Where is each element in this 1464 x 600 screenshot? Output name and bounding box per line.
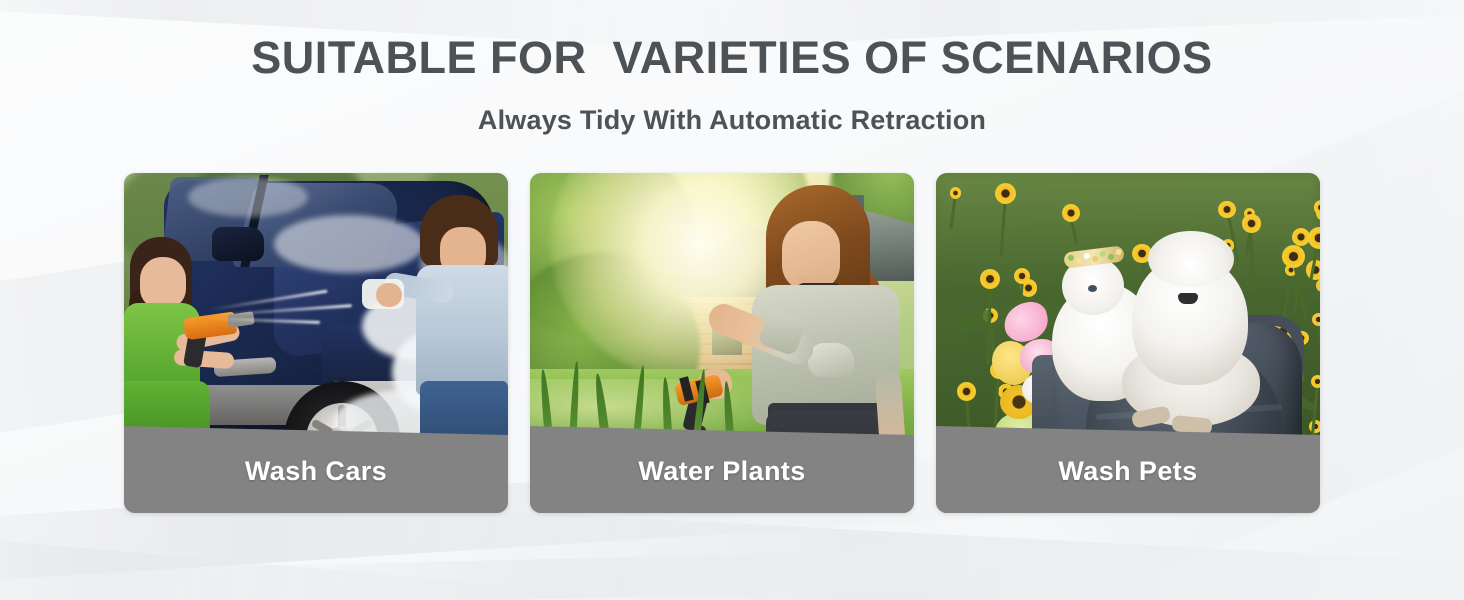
rudbeckia-flower bbox=[1218, 201, 1235, 218]
scenario-card-water-plants[interactable]: Water Plants bbox=[530, 173, 914, 513]
background-streak bbox=[0, 527, 602, 600]
page-subtitle: Always Tidy With Automatic Retraction bbox=[0, 105, 1464, 136]
rudbeckia-flower bbox=[1242, 214, 1260, 232]
scenario-card-wash-pets[interactable]: g GIRAFFE TOOLS Wash Pets bbox=[936, 173, 1320, 513]
card-label: Wash Pets bbox=[1058, 456, 1197, 487]
rudbeckia-flower bbox=[1314, 200, 1320, 214]
scenario-card-list: Wash Cars bbox=[124, 173, 1316, 513]
card-label: Water Plants bbox=[638, 456, 805, 487]
rudbeckia-flower bbox=[957, 382, 976, 401]
promo-banner: SUITABLE FOR VARIETIES OF SCENARIOS Alwa… bbox=[0, 0, 1464, 600]
heading-group: SUITABLE FOR VARIETIES OF SCENARIOS Alwa… bbox=[0, 34, 1464, 136]
side-mirror bbox=[212, 227, 264, 261]
page-title: SUITABLE FOR VARIETIES OF SCENARIOS bbox=[0, 34, 1464, 82]
background-streak bbox=[399, 506, 1464, 600]
rudbeckia-flower bbox=[995, 183, 1016, 204]
rudbeckia-flower bbox=[1282, 245, 1305, 268]
rudbeckia-flower bbox=[1312, 313, 1320, 326]
scenario-card-wash-cars[interactable]: Wash Cars bbox=[124, 173, 508, 513]
background-streak bbox=[170, 544, 1171, 600]
rudbeckia-flower bbox=[1311, 375, 1320, 388]
card-label: Wash Cars bbox=[245, 456, 387, 487]
